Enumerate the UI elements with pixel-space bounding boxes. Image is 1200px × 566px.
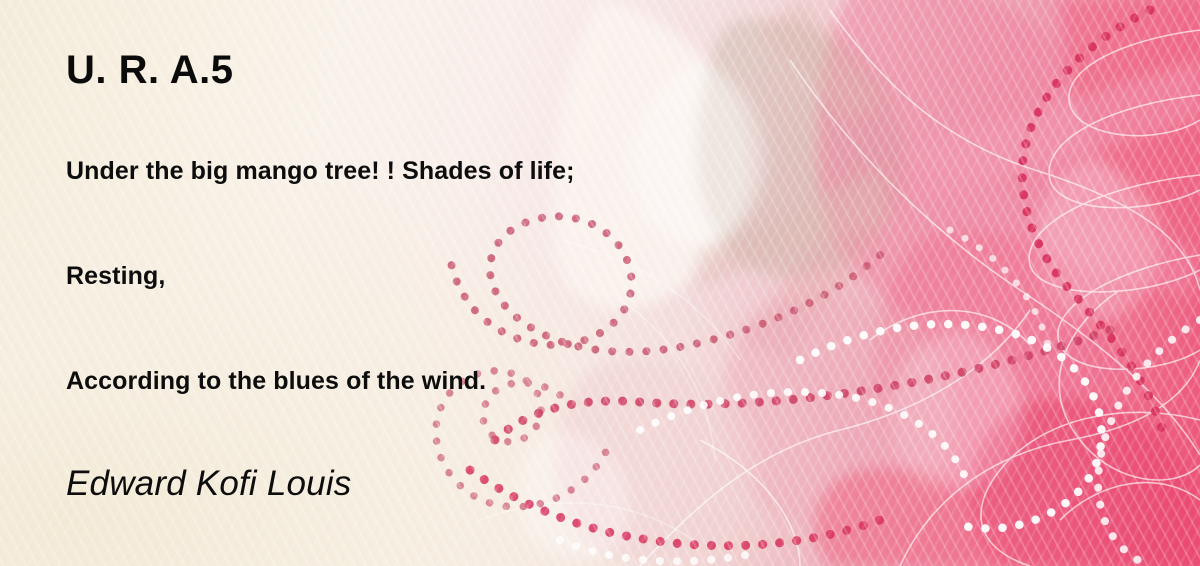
poem-line-1: Under the big mango tree! ! Shades of li… [66, 157, 575, 186]
poem-content: U. R. A.5 Under the big mango tree! ! Sh… [0, 0, 1200, 566]
poem-author: Edward Kofi Louis [66, 464, 352, 504]
poem-card: U. R. A.5 Under the big mango tree! ! Sh… [0, 0, 1200, 566]
poem-line-3: According to the blues of the wind. [66, 367, 486, 396]
poem-title: U. R. A.5 [66, 48, 234, 93]
poem-line-2: Resting, [66, 262, 165, 291]
